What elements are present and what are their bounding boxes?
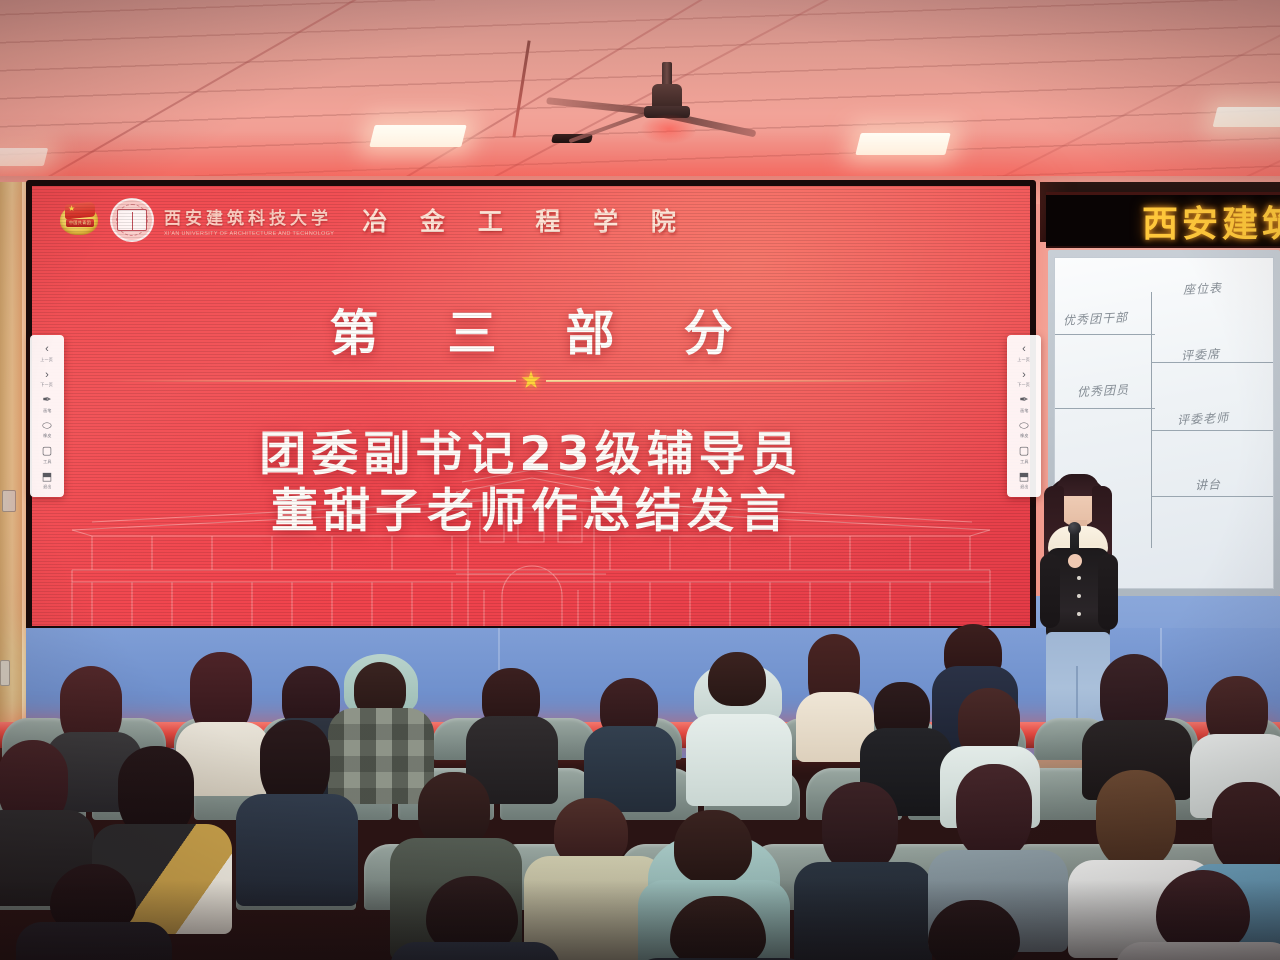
whiteboard-note: 讲台 — [1195, 475, 1222, 493]
speaker-button — [1077, 594, 1081, 598]
toolbar-eraser[interactable]: ⬭ 橡皮 — [1007, 417, 1041, 443]
wall-outlet-plate[interactable] — [0, 660, 10, 686]
toolbar-tools[interactable]: ▢ 工具 — [1007, 442, 1041, 468]
toolbar-pen[interactable]: ✒ 画笔 — [30, 391, 64, 417]
microphone-head-icon — [1068, 522, 1081, 535]
whiteboard-line — [1055, 408, 1155, 409]
person-top — [686, 714, 792, 806]
ceiling-light-panel — [369, 125, 466, 147]
toolbar-label: 下一页 — [1018, 382, 1031, 388]
whiteboard-note: 座位表 — [1183, 279, 1223, 298]
ticker-text: 西安建筑 — [1142, 195, 1280, 247]
person-hair — [674, 810, 752, 884]
toolbar-eraser[interactable]: ⬭ 橡皮 — [30, 417, 64, 443]
toolbar-label: 画笔 — [43, 408, 51, 414]
pen-icon: ✒ — [1019, 394, 1028, 406]
whiteboard-line — [1055, 334, 1155, 335]
eraser-icon: ⬭ — [42, 420, 51, 432]
toolbox-icon: ▢ — [1019, 445, 1029, 457]
toolbar-pen[interactable]: ✒ 画笔 — [1007, 391, 1041, 417]
ppt-toolbar-left[interactable]: ‹ 上一页 › 下一页 ✒ 画笔 ⬭ 橡皮 ▢ 工具 ⬒ 退出 — [30, 335, 64, 497]
chevron-right-icon: › — [45, 369, 49, 381]
auditorium-scene: ★ 中国共青团 西安建筑科技大学 XI'AN UNIVERSITY OF ARC… — [0, 0, 1280, 960]
foreground-shadow — [0, 880, 1280, 960]
speaker-button — [1077, 576, 1081, 580]
ceiling-light-panel — [1213, 107, 1280, 127]
toolbar-prev-page[interactable]: ‹ 上一页 — [30, 340, 64, 366]
person-plaid-jacket — [328, 708, 434, 804]
whiteboard-line — [1151, 430, 1274, 431]
whiteboard-line — [1151, 496, 1274, 497]
toolbar-label: 橡皮 — [1020, 433, 1028, 439]
speaker-button — [1077, 612, 1081, 616]
speaker-arm-right — [1098, 554, 1118, 630]
led-display-screen[interactable]: ★ 中国共青团 西安建筑科技大学 XI'AN UNIVERSITY OF ARC… — [26, 180, 1036, 632]
person-hair — [1212, 782, 1280, 874]
whiteboard-note: 评委席 — [1181, 345, 1221, 364]
pen-icon: ✒ — [42, 394, 51, 406]
chevron-left-icon: ‹ — [45, 343, 49, 355]
toolbar-prev-page[interactable]: ‹ 上一页 — [1007, 340, 1041, 366]
led-scrolling-ticker: 西安建筑 — [1046, 192, 1280, 248]
whiteboard-note: 评委老师 — [1177, 409, 1230, 429]
person-hair — [418, 772, 490, 848]
slide-canvas: ★ 中国共青团 西安建筑科技大学 XI'AN UNIVERSITY OF ARC… — [32, 186, 1030, 626]
eraser-icon: ⬭ — [1019, 420, 1028, 432]
toolbar-exit[interactable]: ⬒ 退出 — [30, 468, 64, 494]
person-hair — [956, 764, 1032, 860]
whiteboard-note: 优秀团员 — [1077, 381, 1130, 401]
chevron-right-icon: › — [1022, 369, 1026, 381]
toolbox-icon: ▢ — [42, 445, 52, 457]
ceiling-light-panel — [0, 148, 48, 166]
exit-icon: ⬒ — [42, 471, 52, 483]
toolbar-tools[interactable]: ▢ 工具 — [30, 442, 64, 468]
speaker-arm-left — [1040, 554, 1060, 628]
toolbar-label: 上一页 — [41, 357, 54, 363]
toolbar-label: 退出 — [43, 484, 51, 490]
ceiling-light-panel — [855, 133, 950, 155]
ceiling-fan-icon — [592, 62, 752, 142]
toolbar-label: 下一页 — [41, 382, 54, 388]
person-hair — [708, 652, 766, 706]
person-hair — [822, 782, 898, 874]
toolbar-label: 画笔 — [1020, 408, 1028, 414]
whiteboard-note: 优秀团干部 — [1063, 308, 1129, 328]
toolbar-label: 工具 — [1020, 459, 1028, 465]
toolbar-label: 上一页 — [1018, 357, 1031, 363]
led-scanline-overlay — [32, 186, 1030, 626]
wall-switch-plate[interactable] — [2, 490, 16, 512]
toolbar-label: 工具 — [43, 459, 51, 465]
speaker-hand — [1068, 554, 1082, 568]
chevron-left-icon: ‹ — [1022, 343, 1026, 355]
person-hair — [1096, 770, 1176, 870]
toolbar-next-page[interactable]: › 下一页 — [1007, 366, 1041, 392]
toolbar-label: 橡皮 — [43, 433, 51, 439]
toolbar-next-page[interactable]: › 下一页 — [30, 366, 64, 392]
whiteboard-line — [1151, 292, 1152, 548]
